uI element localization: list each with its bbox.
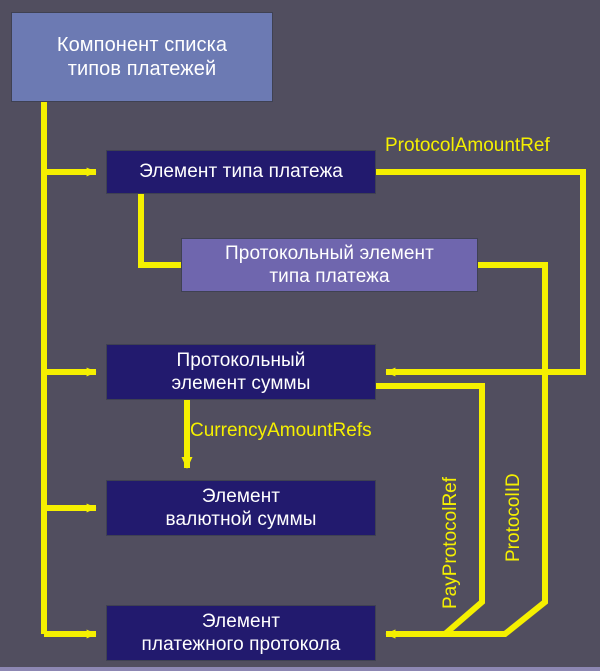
edge-label-currency-amount-refs: CurrencyAmountRefs xyxy=(190,420,372,442)
node-label: Элемент типа платежа xyxy=(139,160,343,183)
edge-label-protocol-id: ProtocolID xyxy=(503,473,525,562)
node-currency-amount-element[interactable]: Элемент валютной суммы xyxy=(106,480,376,536)
node-label: Протокольный элемент суммы xyxy=(172,349,311,395)
edge-protocol-id xyxy=(386,265,545,634)
node-protocol-amount-element[interactable]: Протокольный элемент суммы xyxy=(106,344,376,400)
node-protocol-payment-type-element[interactable]: Протокольный элемент типа платежа xyxy=(181,238,478,292)
bottom-border-strip xyxy=(0,667,600,671)
node-label: Элемент валютной суммы xyxy=(166,485,317,531)
node-label: Элемент платежного протокола xyxy=(142,610,341,656)
node-label: Протокольный элемент типа платежа xyxy=(225,242,434,288)
node-payment-type-element[interactable]: Элемент типа платежа xyxy=(106,150,376,194)
edge-pay-protocol-ref xyxy=(376,386,482,634)
node-label: Компонент списка типов платежей xyxy=(57,33,227,82)
node-payment-protocol-element[interactable]: Элемент платежного протокола xyxy=(106,605,376,661)
edge-label-protocol-amount-ref: ProtocolAmountRef xyxy=(385,135,550,157)
diagram-canvas: Компонент списка типов платежей Элемент … xyxy=(0,0,600,671)
edge-payment-type-to-protocol-type xyxy=(141,194,181,265)
node-payment-type-list-component[interactable]: Компонент списка типов платежей xyxy=(11,12,273,102)
edge-label-pay-protocol-ref: PayProtocolRef xyxy=(440,477,462,609)
